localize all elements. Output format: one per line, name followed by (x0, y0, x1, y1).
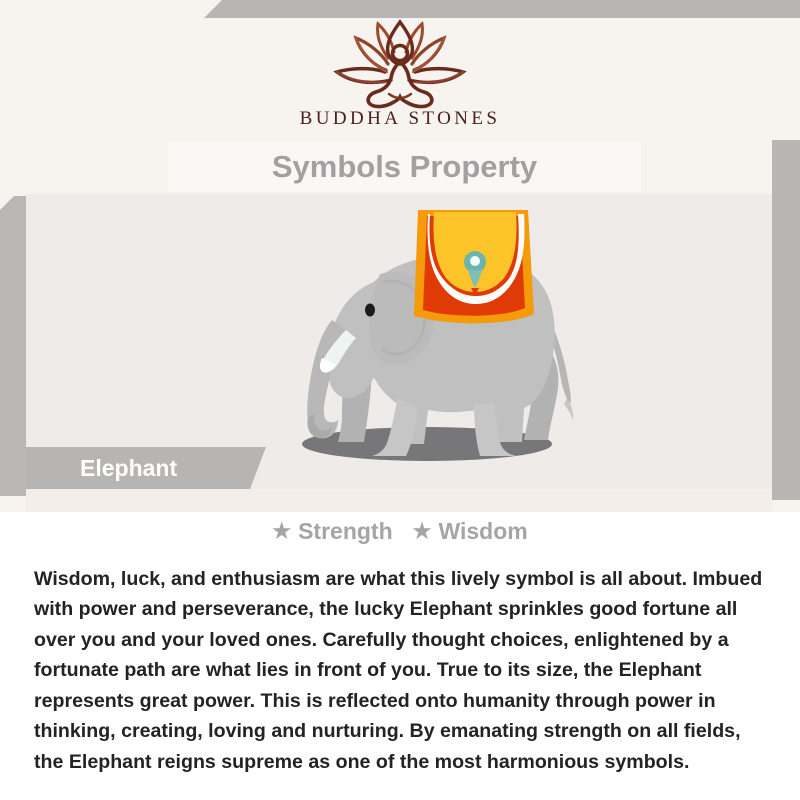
brand-logo-block: BUDDHA STONES (0, 18, 800, 130)
brand-header: BUDDHA STONES (0, 18, 800, 140)
description-text: Wisdom, luck, and enthusiasm are what th… (34, 564, 774, 778)
panel-lower-band (26, 489, 772, 512)
frame-left-bar (0, 196, 26, 496)
title-banner: Symbols Property (168, 142, 641, 192)
page-title: Symbols Property (272, 149, 537, 185)
trait-list: ★ Strength ★ Wisdom (0, 518, 800, 545)
lotus-meditation-icon (325, 18, 475, 110)
poster-canvas: BUDDHA STONES Symbols Property (0, 0, 800, 800)
frame-top-bar (0, 0, 800, 18)
elephant-eye (365, 304, 375, 317)
trait-item-wisdom: ★ Wisdom (413, 518, 528, 545)
symbol-name-banner: Elephant (26, 447, 266, 489)
star-icon: ★ (413, 521, 432, 542)
trait-label-strength: Strength (298, 518, 393, 545)
brand-name: BUDDHA STONES (300, 108, 501, 130)
trait-label-wisdom: Wisdom (438, 518, 527, 545)
star-icon: ★ (272, 521, 291, 542)
trait-item-strength: ★ Strength (272, 518, 392, 545)
description-section: ★ Strength ★ Wisdom Wisdom, luck, and en… (0, 512, 800, 800)
symbol-name: Elephant (80, 455, 177, 482)
